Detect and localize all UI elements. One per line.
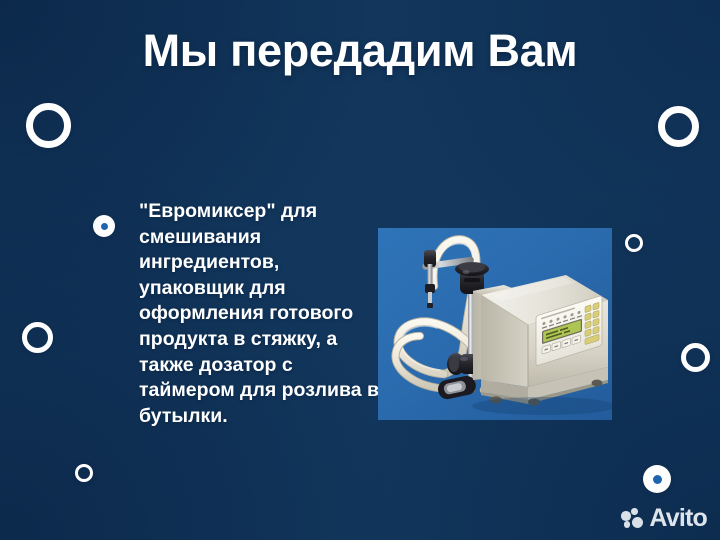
decor-ring-right: [681, 343, 710, 372]
promo-slide: Мы передадим Вам "Евромиксер" для смешив…: [0, 0, 720, 540]
product-photo-liquid-filling-machine: [378, 228, 612, 420]
decor-ring-mid-right: [625, 234, 643, 252]
decor-ring-mid-left: [22, 322, 53, 353]
avito-dots-icon: [621, 508, 644, 529]
bullet-point-icon: [93, 215, 115, 237]
decor-ring-top-right: [658, 106, 699, 147]
decor-ring-top-left: [26, 103, 71, 148]
avito-watermark: Avito: [621, 506, 707, 531]
page-title: Мы передадим Вам: [0, 24, 720, 78]
decor-donut-bottom-right: [643, 465, 671, 493]
decor-ring-bottom-left: [75, 464, 93, 482]
body-text: "Евромиксер" для смешивания ингредиентов…: [139, 199, 387, 429]
avito-wordmark: Avito: [649, 506, 707, 531]
